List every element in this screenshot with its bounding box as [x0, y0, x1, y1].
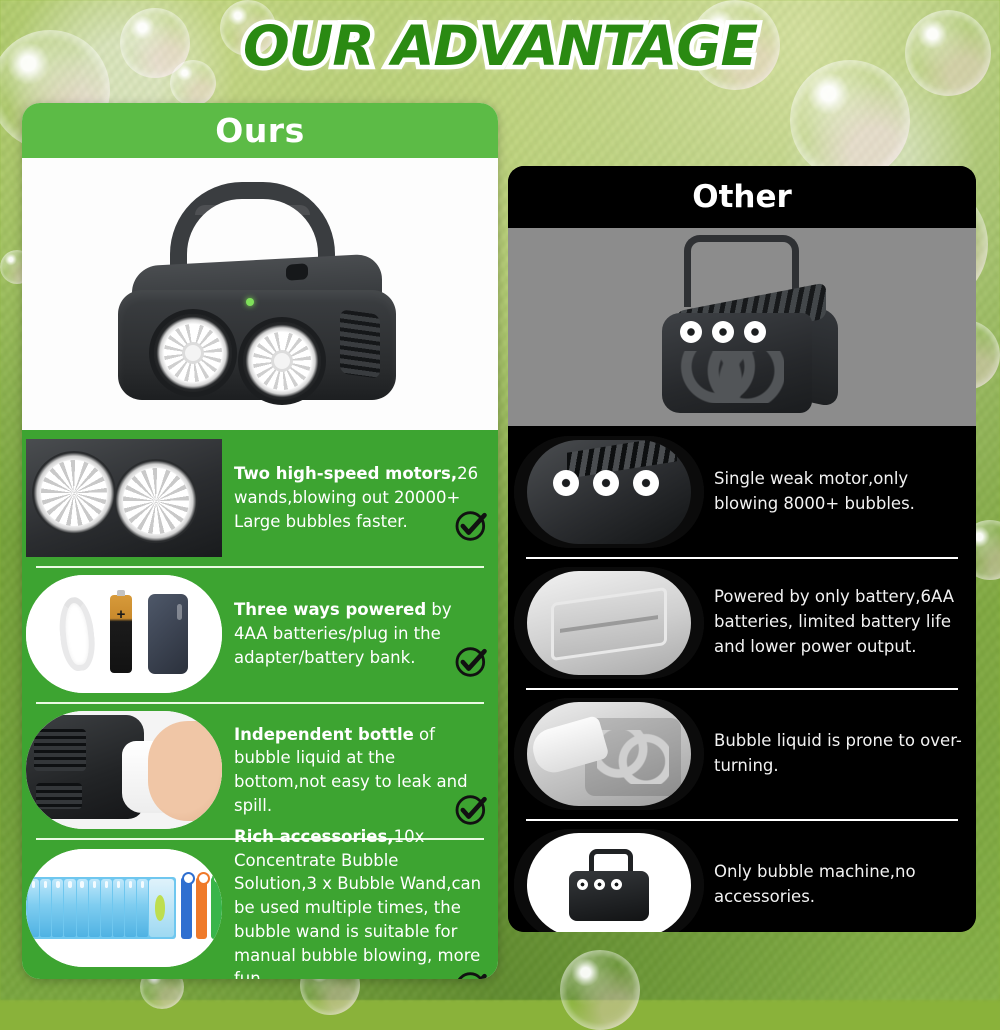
solution-bottle	[28, 879, 39, 937]
ours-feature-list: Two high-speed motors,26 wands,blowing o…	[22, 430, 498, 979]
bubble-wand-set	[181, 877, 222, 939]
bubble-decoration	[560, 950, 640, 1030]
list-item: Three ways powered by 4AA batteries/plug…	[22, 566, 498, 702]
feature-text: Two high-speed motors,26 wands,blowing o…	[222, 462, 490, 533]
nozzle-group	[553, 470, 659, 496]
page-title: OUR ADVANTAGE	[0, 14, 1000, 78]
solution-bottle	[77, 879, 88, 937]
drawback-text: Powered by only battery,6AA batteries, l…	[704, 585, 966, 659]
other-feature-list: Single weak motor,only blowing 8000+ bub…	[508, 426, 976, 932]
nozzle-part	[577, 879, 588, 890]
check-mark-icon	[452, 967, 492, 979]
list-item: Only bubble machine,no accessories.	[508, 819, 976, 932]
mini-machine-illustration	[561, 849, 657, 921]
machine-only-art	[527, 833, 691, 933]
power-options-image	[26, 575, 222, 693]
feature-text: Rich accessories,10x Concentrate Bubble …	[222, 825, 490, 979]
solution-bottle	[52, 879, 63, 937]
list-item: Powered by only battery,6AA batteries, l…	[508, 557, 976, 688]
thumb-frame	[514, 698, 704, 810]
thumb-frame	[514, 567, 704, 679]
competitor-machine-illustration	[622, 235, 862, 420]
power-bank-icon	[148, 594, 188, 674]
drawback-text: Bubble liquid is prone to over-turning.	[704, 729, 966, 779]
solution-bottle	[113, 879, 124, 937]
wand-ring-part	[674, 351, 784, 403]
solution-bottle	[89, 879, 100, 937]
led-indicator-icon	[246, 298, 254, 306]
check-mark-icon	[452, 790, 492, 830]
power-knob-part	[286, 263, 308, 281]
solution-bottle	[137, 879, 148, 937]
ours-hero-image	[22, 158, 498, 430]
feature-bold-text: Three ways powered	[234, 600, 426, 619]
ours-header: Ours	[22, 103, 498, 158]
list-item: Single weak motor,only blowing 8000+ bub…	[508, 426, 976, 557]
bubble-machine-illustration	[110, 182, 410, 407]
other-header-label: Other	[692, 179, 792, 215]
other-header: Other	[508, 166, 976, 228]
nozzle-part	[633, 470, 659, 496]
check-mark-icon	[452, 642, 492, 682]
body-part	[118, 290, 396, 400]
oval-mask	[527, 702, 691, 806]
battery-slot-part	[551, 586, 667, 660]
feature-text: Three ways powered by 4AA batteries/plug…	[222, 598, 490, 669]
other-hero-image	[508, 228, 976, 426]
nozzle-part	[594, 879, 605, 890]
solution-pack-label	[149, 879, 174, 937]
battery-compartment-art	[527, 571, 691, 675]
feature-bold-text: Independent bottle	[234, 725, 414, 744]
nozzle-part	[680, 321, 702, 343]
independent-bottle-image	[26, 711, 222, 829]
check-mark-icon	[452, 506, 492, 546]
other-panel: Other	[508, 166, 976, 932]
usb-cable-icon	[56, 595, 98, 672]
feature-text: Independent bottle of bubble liquid at t…	[222, 723, 490, 818]
accessories-image	[26, 849, 222, 967]
list-item: Bubble liquid is prone to over-turning.	[508, 688, 976, 819]
bubble-wand-blue	[181, 877, 192, 939]
fan-wheel-right	[243, 322, 321, 400]
drawback-text: Single weak motor,only blowing 8000+ bub…	[704, 467, 966, 517]
bubble-solution-pack	[26, 877, 176, 939]
fan-wheel-right	[114, 459, 198, 543]
power-options-art	[26, 575, 222, 693]
fan-closeup-art	[26, 439, 222, 557]
feature-bold-text: Two high-speed motors,	[234, 464, 457, 483]
solution-bottle	[101, 879, 112, 937]
list-item: Rich accessories,10x Concentrate Bubble …	[22, 838, 498, 978]
vent-grille-part	[340, 309, 380, 379]
accessories-art	[26, 849, 222, 967]
competitor-machine-only-image	[514, 829, 704, 933]
fan-wheel-left	[32, 451, 116, 535]
thumb-frame	[514, 436, 704, 548]
liquid-pour-art	[527, 702, 691, 806]
bubble-wand-orange	[196, 877, 207, 939]
fan-wheel-left	[154, 314, 232, 392]
oval-mask	[527, 571, 691, 675]
nozzle-part	[611, 879, 622, 890]
hand-part	[148, 721, 222, 821]
nozzle-part	[553, 470, 579, 496]
ours-header-label: Ours	[215, 111, 304, 150]
list-item: Independent bottle of bubble liquid at t…	[22, 702, 498, 838]
single-motor-closeup-image	[514, 436, 704, 548]
bottle-refill-art	[26, 711, 222, 829]
feature-rest-text: 10x Concentrate Bubble Solution,3 x Bubb…	[234, 827, 481, 979]
ours-panel: Ours Two high-speed motor	[22, 103, 498, 979]
twin-fan-closeup-image	[26, 439, 222, 557]
oval-mask	[527, 833, 691, 933]
solution-bottle	[40, 879, 51, 937]
nozzle-group	[680, 321, 766, 343]
feature-bold-text: Rich accessories,	[234, 827, 394, 846]
liquid-tray-image	[514, 698, 704, 810]
bubble-decoration	[790, 60, 910, 180]
list-item: Two high-speed motors,26 wands,blowing o…	[22, 430, 498, 566]
solution-bottle	[64, 879, 75, 937]
oval-mask	[527, 440, 691, 544]
battery-compartment-image	[514, 567, 704, 679]
nozzle-part	[712, 321, 734, 343]
nozzle-group	[577, 879, 622, 890]
aa-battery-icon	[110, 595, 132, 673]
bubble-wand-green	[211, 877, 222, 939]
nozzle-part	[593, 470, 619, 496]
nozzle-part	[744, 321, 766, 343]
thumb-frame	[514, 829, 704, 933]
motor-closeup-art	[527, 440, 691, 544]
drawback-text: Only bubble machine,no accessories.	[704, 860, 966, 910]
solution-bottle	[125, 879, 136, 937]
